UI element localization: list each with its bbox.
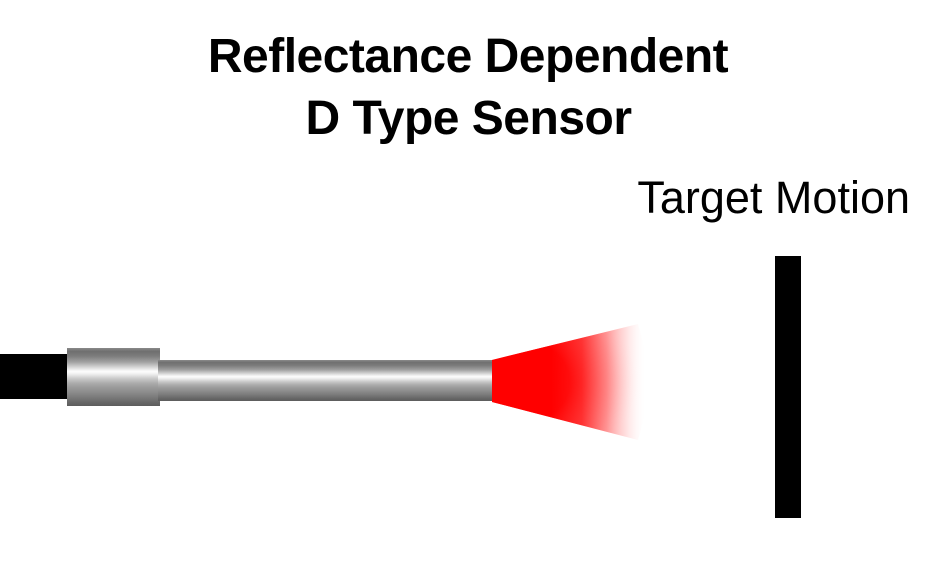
red-light-cone	[488, 310, 668, 455]
sensor-barrel	[158, 360, 494, 401]
sensor-nut-housing	[67, 348, 160, 406]
beam-core-glow	[492, 324, 647, 440]
page-title: Reflectance Dependent D Type Sensor	[0, 26, 938, 150]
beam-cone-shape	[492, 324, 647, 440]
title-line-2: D Type Sensor	[0, 88, 938, 150]
title-line-1: Reflectance Dependent	[0, 26, 938, 88]
diagram-canvas: Reflectance Dependent D Type Sensor Targ…	[0, 0, 938, 563]
target-motion-label: Target Motion	[500, 172, 910, 224]
sensor-cable	[0, 354, 70, 399]
target-plate	[775, 256, 801, 518]
red-light-cone-graphic	[488, 310, 668, 455]
